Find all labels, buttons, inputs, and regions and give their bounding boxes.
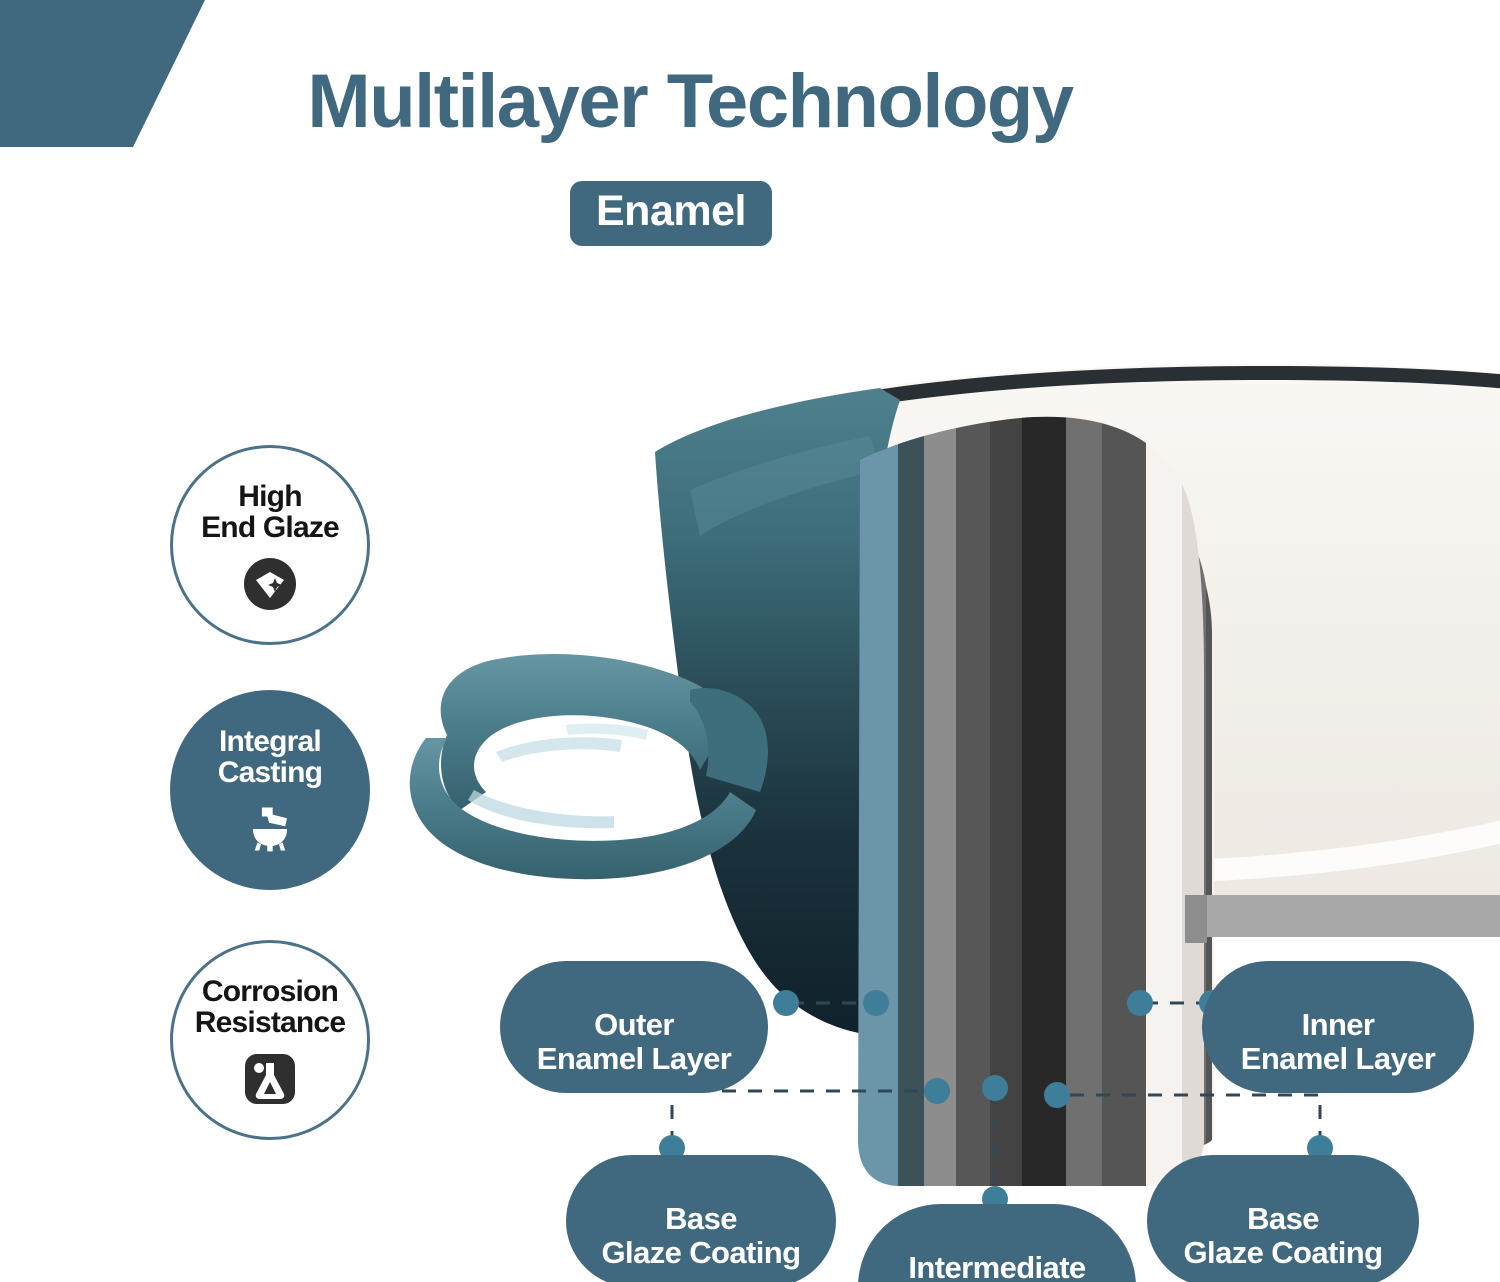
callout-label: Inner Enamel Layer (1241, 1007, 1435, 1075)
callout-label: Outer Enamel Layer (537, 1007, 731, 1075)
callout-label: Base Glaze Coating (602, 1201, 801, 1269)
callout-inner-enamel-layer[interactable]: Inner Enamel Layer (1202, 961, 1474, 1093)
callout-outer-enamel-layer[interactable]: Outer Enamel Layer (500, 961, 768, 1093)
callout-intermediate-cast-iron-layer[interactable]: Intermediate Cast Iron Layer (858, 1204, 1136, 1282)
callout-label: Intermediate Cast Iron Layer (908, 1250, 1085, 1282)
callout-label: Base Glaze Coating (1184, 1201, 1383, 1269)
callout-base-glaze-coating-left[interactable]: Base Glaze Coating (566, 1155, 836, 1282)
callout-base-glaze-coating-right[interactable]: Base Glaze Coating (1147, 1155, 1419, 1282)
infographic-page: Multilayer Technology Enamel (0, 0, 1500, 1282)
